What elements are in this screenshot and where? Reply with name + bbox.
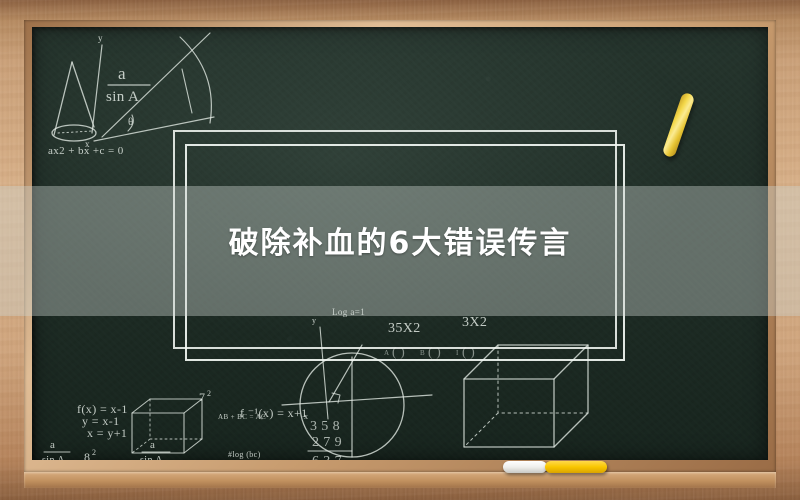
cone-shape	[52, 62, 96, 141]
chalk-log-bc: #log (bc)	[228, 450, 261, 459]
chalk-sine-den-1: sin A	[42, 455, 65, 460]
ledge-yellow-chalk	[545, 461, 607, 473]
chalk-inverse-fn: f ⁻¹(x) = x+1	[240, 406, 308, 420]
blackboard-cover-image: a sin A y x θ ax2 + bx +c = 0	[0, 0, 800, 500]
chalk-power-b: 8	[84, 450, 90, 460]
chalk-x-eq: x = y+1	[87, 426, 127, 440]
chalk-quadratic-equation: ax2 + bx +c = 0	[48, 145, 124, 157]
chalk-power-a-exp: 2	[207, 389, 211, 398]
chalk-axis-y-label-tl: y	[98, 33, 103, 43]
chalk-long-division: 3 5 8 2 7 9 6 3 7	[308, 419, 352, 460]
chalk-power-a: 7	[199, 390, 205, 404]
chalk-sine-den-2: sin A	[140, 455, 163, 460]
chalk-sine-num-2: a	[150, 439, 155, 451]
chalk-cone-fraction-denominator: sin A	[106, 89, 139, 105]
ledge-white-chalk	[503, 461, 547, 473]
chalk-cone-fraction-numerator: a	[118, 64, 126, 83]
chalk-tray	[24, 472, 776, 488]
svg-text:2 7 9: 2 7 9	[312, 435, 342, 450]
cube-left-shape	[132, 399, 202, 453]
chalk-angle-label: θ	[128, 116, 134, 128]
svg-text:6 3 7: 6 3 7	[312, 454, 342, 460]
chalk-power-b-exp: 2	[92, 448, 96, 457]
chalk-sine-num-1: a	[50, 439, 55, 451]
svg-text:3 5 8: 3 5 8	[310, 419, 340, 434]
page-title: 破除补血的6大错误传言	[0, 229, 800, 259]
